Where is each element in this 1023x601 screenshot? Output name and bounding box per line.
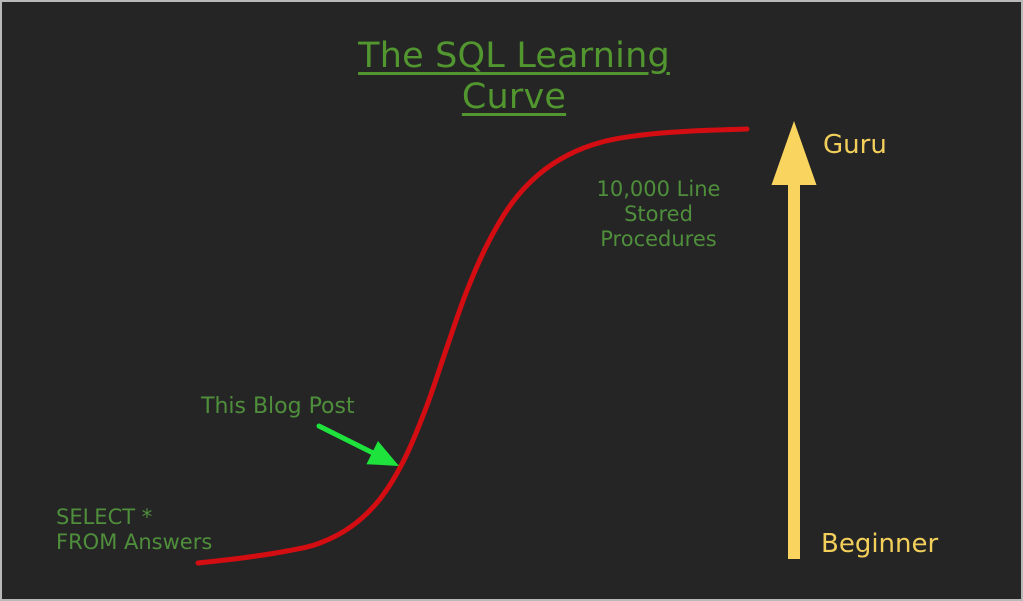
blog-post-annotation-label: This Blog Post [201,394,355,420]
sql-learning-curve-infographic: The SQL Learning Curve 10,000 Line Store… [0,0,1023,601]
skill-axis-arrow [772,121,817,559]
page-title: The SQL Learning Curve [264,36,764,119]
axis-label-beginner: Beginner [821,529,938,560]
axis-label-guru: Guru [823,130,887,161]
blog-post-pointer-arrow [319,426,399,466]
expert-level-label: 10,000 Line Stored Procedures [577,177,740,251]
novice-level-label: SELECT * FROM Answers [56,505,316,555]
